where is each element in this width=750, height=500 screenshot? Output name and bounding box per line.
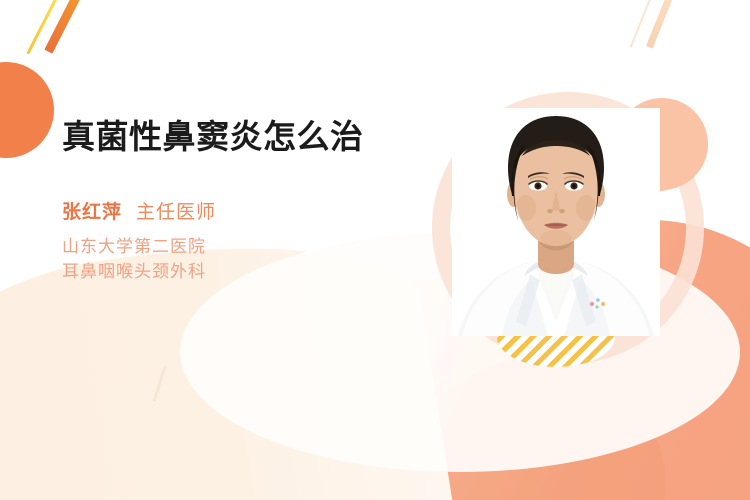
doctor-credential-row: 张红萍 主任医师	[62, 197, 422, 224]
doctor-department: 耳鼻咽喉头颈外科	[62, 259, 422, 285]
top-right-thick-stripe	[646, 0, 681, 49]
doctor-name: 张红萍	[62, 197, 122, 224]
left-orange-circle	[0, 62, 54, 158]
text-block: 真菌性鼻窦炎怎么治 张红萍 主任医师 山东大学第二医院 耳鼻咽喉头颈外科	[62, 118, 422, 285]
doctor-portrait	[452, 108, 660, 336]
page-title: 真菌性鼻窦炎怎么治	[62, 118, 422, 157]
doctor-affiliation: 山东大学第二医院 耳鼻咽喉头颈外科	[62, 234, 422, 285]
doctor-hospital: 山东大学第二医院	[62, 234, 422, 260]
doctor-job-title: 主任医师	[136, 197, 216, 224]
doctor-video-cover: 真菌性鼻窦炎怎么治 张红萍 主任医师 山东大学第二医院 耳鼻咽喉头颈外科	[0, 0, 750, 500]
